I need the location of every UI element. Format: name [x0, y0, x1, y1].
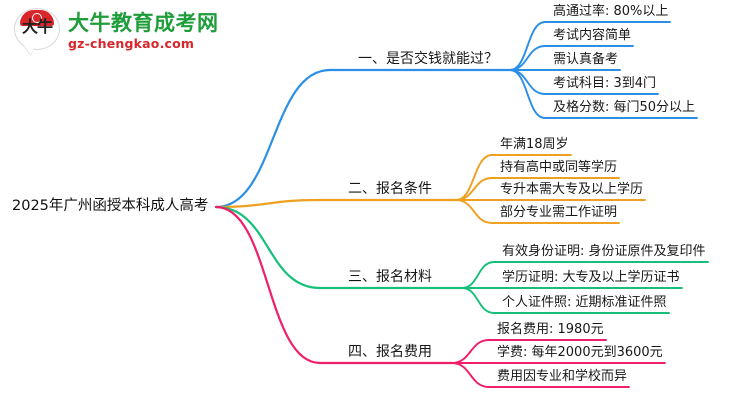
mindmap-edge	[216, 207, 320, 288]
leaf-label[interactable]: 高通过率: 80%以上	[553, 5, 668, 18]
leaf-label[interactable]: 需认真备考	[553, 53, 618, 66]
mindmap-edge	[452, 340, 489, 363]
leaf-label[interactable]: 及格分数: 每门50分以上	[553, 101, 695, 114]
mindmap: 2025年广州函授本科成人高考 一、是否交钱就能过？高通过率: 80%以上考试内…	[0, 0, 750, 410]
leaf-label[interactable]: 有效身份证明: 身份证原件及复印件	[502, 245, 706, 258]
root-node: 2025年广州函授本科成人高考	[12, 199, 208, 214]
mindmap-edge	[456, 155, 492, 200]
leaf-label[interactable]: 专升本需大专及以上学历	[500, 183, 643, 196]
mindmap-edge	[216, 70, 330, 207]
leaf-label[interactable]: 学历证明: 大专及以上学历证书	[502, 271, 680, 284]
mindmap-edge	[462, 288, 494, 313]
mindmap-edge	[462, 262, 494, 288]
branch-label[interactable]: 二、报名条件	[348, 182, 432, 196]
branch-label[interactable]: 一、是否交钱就能过？	[358, 52, 498, 66]
mindmap-edge	[456, 178, 492, 200]
branch-label[interactable]: 三、报名材料	[348, 270, 432, 284]
leaf-label[interactable]: 考试科目: 3到4门	[553, 77, 656, 90]
mindmap-edge	[510, 70, 545, 94]
mindmap-edge	[456, 200, 492, 223]
mindmap-edge	[452, 363, 489, 387]
leaf-label[interactable]: 年满18周岁	[500, 138, 569, 151]
leaf-label[interactable]: 部分专业需工作证明	[500, 206, 617, 219]
branch-label[interactable]: 四、报名费用	[348, 345, 432, 359]
leaf-label[interactable]: 报名费用: 1980元	[497, 323, 604, 336]
leaf-label[interactable]: 学费: 每年2000元到3600元	[497, 346, 663, 359]
leaf-label[interactable]: 费用因专业和学校而异	[497, 370, 627, 383]
mindmap-edge	[510, 46, 545, 70]
leaf-label[interactable]: 考试内容简单	[553, 29, 631, 42]
leaf-label[interactable]: 个人证件照: 近期标准证件照	[502, 296, 667, 309]
leaf-label[interactable]: 持有高中或同等学历	[500, 161, 617, 174]
